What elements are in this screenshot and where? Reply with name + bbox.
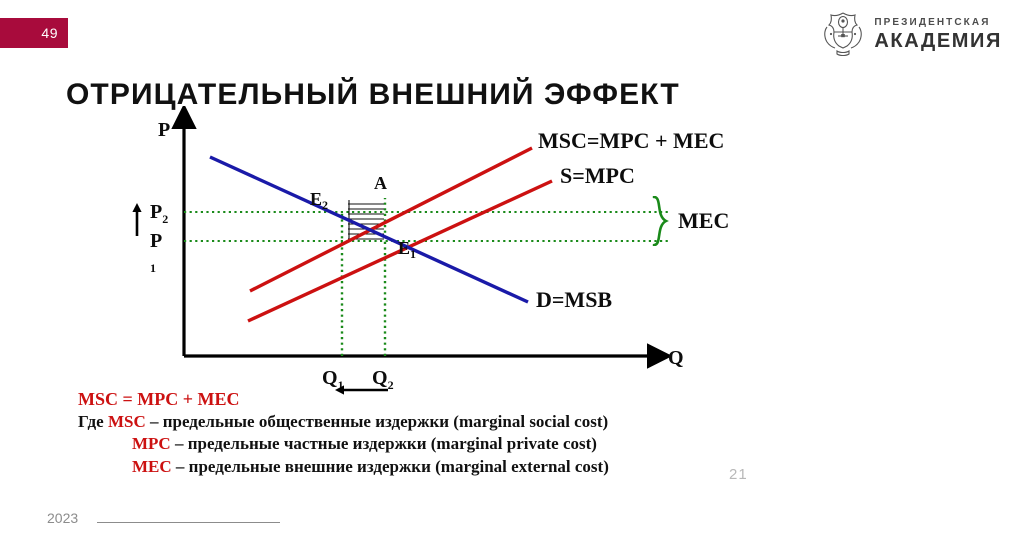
annotation-label-mec: MEC bbox=[678, 208, 729, 234]
slide-watermark-number: 21 bbox=[729, 466, 748, 483]
definition-term-mec: MEC bbox=[132, 457, 172, 476]
definitions-block: MSC = MPC + MEC Где MSC – предельные общ… bbox=[78, 388, 609, 478]
definition-line-mpc: MPC – предельные частные издержки (margi… bbox=[78, 433, 609, 455]
definition-term-msc: MSC bbox=[108, 412, 146, 431]
x-axis-label: Q bbox=[668, 347, 684, 369]
curve-dmsb bbox=[210, 157, 528, 302]
price-label-p2: P2 bbox=[150, 201, 168, 226]
price-label-p1: P bbox=[150, 230, 162, 252]
brand-logo: ПРЕЗИДЕНТСКАЯ АКАДЕМИЯ bbox=[821, 10, 1002, 58]
definition-formula: MSC = MPC + MEC bbox=[78, 388, 609, 411]
legend-label-dmsb: D=MSB bbox=[536, 287, 612, 313]
definition-text-msc: – предельные общественные издержки (marg… bbox=[146, 412, 608, 431]
definition-prefix-gde: Где bbox=[78, 412, 108, 431]
point-label-e1: E1 bbox=[398, 238, 416, 261]
price-label-p1-sub: 1 bbox=[150, 261, 156, 275]
definition-text-mpc: – предельные частные издержки (marginal … bbox=[171, 434, 597, 453]
legend-label-msc: MSC=MPC + MEC bbox=[538, 128, 724, 154]
slide-number-badge: 49 bbox=[0, 18, 68, 48]
footer-year: 2023 bbox=[47, 510, 78, 526]
logo-wordmark: ПРЕЗИДЕНТСКАЯ АКАДЕМИЯ bbox=[874, 18, 1002, 51]
formula-text: MSC = MPC + MEC bbox=[78, 389, 240, 409]
definition-term-mpc: MPC bbox=[132, 434, 171, 453]
logo-line-presidential: ПРЕЗИДЕНТСКАЯ bbox=[874, 18, 1002, 28]
point-label-e2: E2 bbox=[310, 189, 328, 212]
logo-line-academy: АКАДЕМИЯ bbox=[874, 31, 1002, 51]
definition-line-mec: MEC – предельные внешние издержки (margi… bbox=[78, 456, 609, 478]
point-label-a: A bbox=[374, 173, 387, 193]
curve-msc bbox=[250, 148, 532, 291]
footer-divider bbox=[97, 522, 280, 523]
definition-line-msc: Где MSC – предельные общественные издерж… bbox=[78, 411, 609, 433]
y-axis-label: P bbox=[158, 119, 170, 141]
slide-number-text: 49 bbox=[41, 25, 58, 41]
legend-label-smpc: S=MPC bbox=[560, 163, 635, 189]
price-up-arrow-icon bbox=[132, 203, 141, 236]
definition-text-mec: – предельные внешние издержки (marginal … bbox=[172, 457, 609, 476]
coat-of-arms-icon bbox=[821, 10, 865, 58]
mec-brace-icon bbox=[650, 196, 676, 246]
slide-root: 49 ПРЕЗИДЕНТСКАЯ А bbox=[0, 0, 1024, 539]
